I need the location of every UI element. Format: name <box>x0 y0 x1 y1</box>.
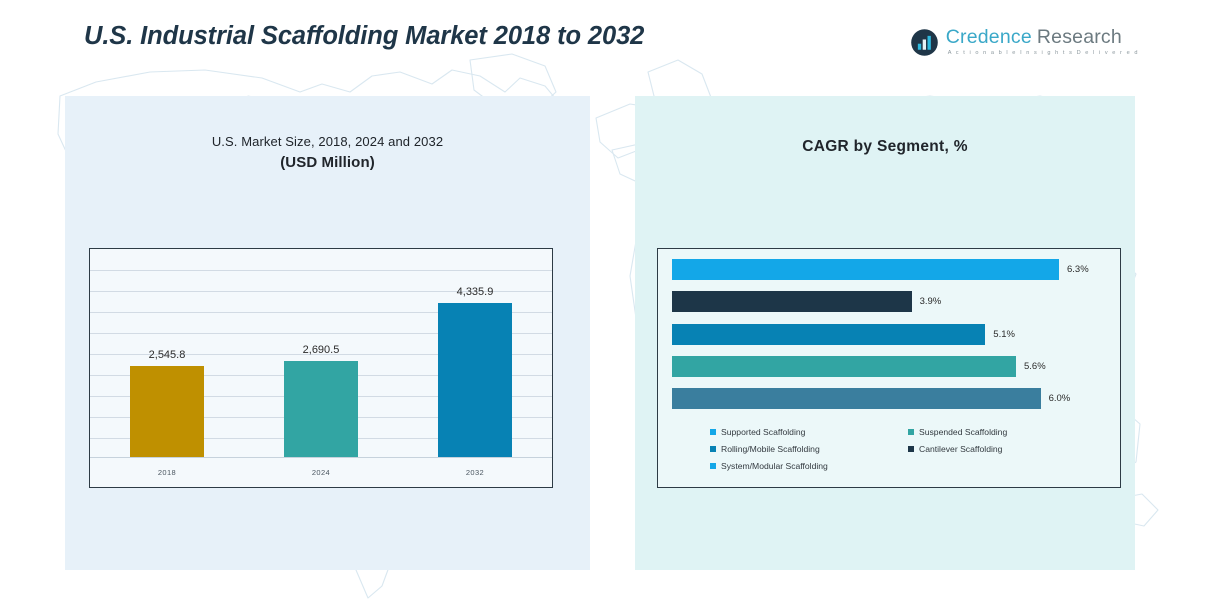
legend-swatch-icon <box>908 429 914 435</box>
chart-legend: Supported ScaffoldingSuspended Scaffoldi… <box>710 427 1106 471</box>
bar-row: 6.0% <box>672 388 1110 409</box>
bar-column: 2,690.5 <box>284 257 358 457</box>
brand-logo: Credence Research A c t i o n a b l e I … <box>910 28 1139 57</box>
market-size-bar-chart: 2,545.82,690.54,335.9 201820242032 <box>89 248 553 488</box>
bar-row: 6.3% <box>672 259 1110 280</box>
legend-label: Supported Scaffolding <box>721 427 805 437</box>
header: U.S. Industrial Scaffolding Market 2018 … <box>0 0 1207 88</box>
bar-value-label: 6.0% <box>1049 393 1071 404</box>
bar-rect <box>130 366 204 457</box>
legend-label: System/Modular Scaffolding <box>721 461 828 471</box>
legend-swatch-icon <box>908 446 914 452</box>
legend-swatch-icon <box>710 429 716 435</box>
right-panel-title: CAGR by Segment, % <box>635 138 1135 156</box>
bar-value-label: 2,545.8 <box>149 349 186 361</box>
bar-chart-circle-icon <box>910 28 939 57</box>
bar-rect <box>672 259 1059 280</box>
bar-column: 2,545.8 <box>130 257 204 457</box>
chart-plot-area: 6.3%3.9%5.1%5.6%6.0% <box>672 259 1110 409</box>
infographic-page: U.S. Industrial Scaffolding Market 2018 … <box>0 0 1207 602</box>
logo-brand-primary: Credence <box>946 28 1032 48</box>
logo-brand-secondary: Research <box>1037 28 1122 48</box>
bar-value-label: 6.3% <box>1067 264 1089 275</box>
chart-x-axis: 201820242032 <box>90 457 552 487</box>
bar-rect <box>672 388 1041 409</box>
legend-item[interactable]: Suspended Scaffolding <box>908 427 1106 437</box>
legend-label: Suspended Scaffolding <box>919 427 1007 437</box>
x-axis-tick-label: 2024 <box>284 468 358 477</box>
legend-label: Cantilever Scaffolding <box>919 444 1002 454</box>
logo-tagline: A c t i o n a b l e I n s i g h t s D e … <box>948 51 1139 57</box>
left-panel-subtitle: U.S. Market Size, 2018, 2024 and 2032 <box>65 134 590 149</box>
cagr-by-segment-chart: 6.3%3.9%5.1%5.6%6.0% Supported Scaffoldi… <box>657 248 1121 488</box>
right-panel: CAGR by Segment, % 6.3%3.9%5.1%5.6%6.0% … <box>635 96 1135 570</box>
bar-value-label: 5.6% <box>1024 361 1046 372</box>
logo-text: Credence Research A c t i o n a b l e I … <box>946 28 1139 56</box>
bar-row: 3.9% <box>672 291 1110 312</box>
bar-rect <box>438 303 512 457</box>
x-axis-tick-label: 2018 <box>130 468 204 477</box>
bar-value-label: 2,690.5 <box>303 344 340 356</box>
page-title: U.S. Industrial Scaffolding Market 2018 … <box>84 22 644 51</box>
bar-rect <box>672 324 985 345</box>
bar-column: 4,335.9 <box>438 257 512 457</box>
legend-swatch-icon <box>710 463 716 469</box>
bar-rect <box>672 356 1016 377</box>
bar-value-label: 5.1% <box>993 329 1015 340</box>
bar-rect <box>284 361 358 457</box>
bar-value-label: 4,335.9 <box>457 286 494 298</box>
bar-row: 5.1% <box>672 324 1110 345</box>
legend-swatch-icon <box>710 446 716 452</box>
x-axis-tick-label: 2032 <box>438 468 512 477</box>
chart-plot-area: 2,545.82,690.54,335.9 <box>90 257 552 457</box>
legend-item[interactable]: Cantilever Scaffolding <box>908 444 1106 454</box>
bar-rect <box>672 291 912 312</box>
bar-value-label: 3.9% <box>920 296 942 307</box>
legend-item[interactable]: Rolling/Mobile Scaffolding <box>710 444 908 454</box>
legend-item[interactable]: Supported Scaffolding <box>710 427 908 437</box>
legend-item[interactable]: System/Modular Scaffolding <box>710 461 908 471</box>
legend-label: Rolling/Mobile Scaffolding <box>721 444 820 454</box>
left-panel-unit-label: (USD Million) <box>65 154 590 171</box>
left-panel: U.S. Market Size, 2018, 2024 and 2032 (U… <box>65 96 590 570</box>
bar-row: 5.6% <box>672 356 1110 377</box>
